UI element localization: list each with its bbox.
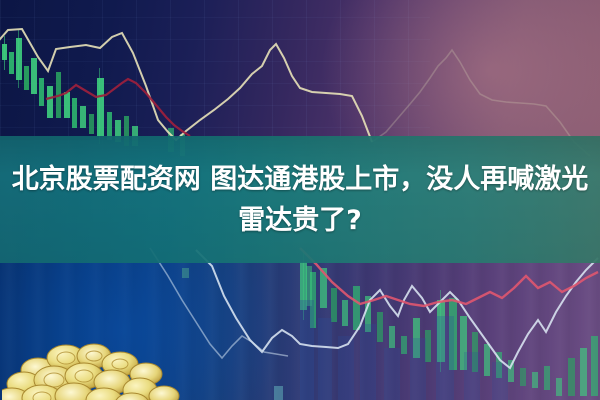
- cover-image: 北京股票配资网 图达通港股上市，没人再喊激光雷达贵了?: [0, 0, 600, 400]
- headline-container: 北京股票配资网 图达通港股上市，没人再喊激光雷达贵了?: [0, 136, 600, 263]
- headline-text: 北京股票配资网 图达通港股上市，没人再喊激光雷达贵了?: [7, 159, 593, 241]
- bottom-left-small-markers: [182, 268, 283, 400]
- gold-coins-pile: [2, 310, 182, 400]
